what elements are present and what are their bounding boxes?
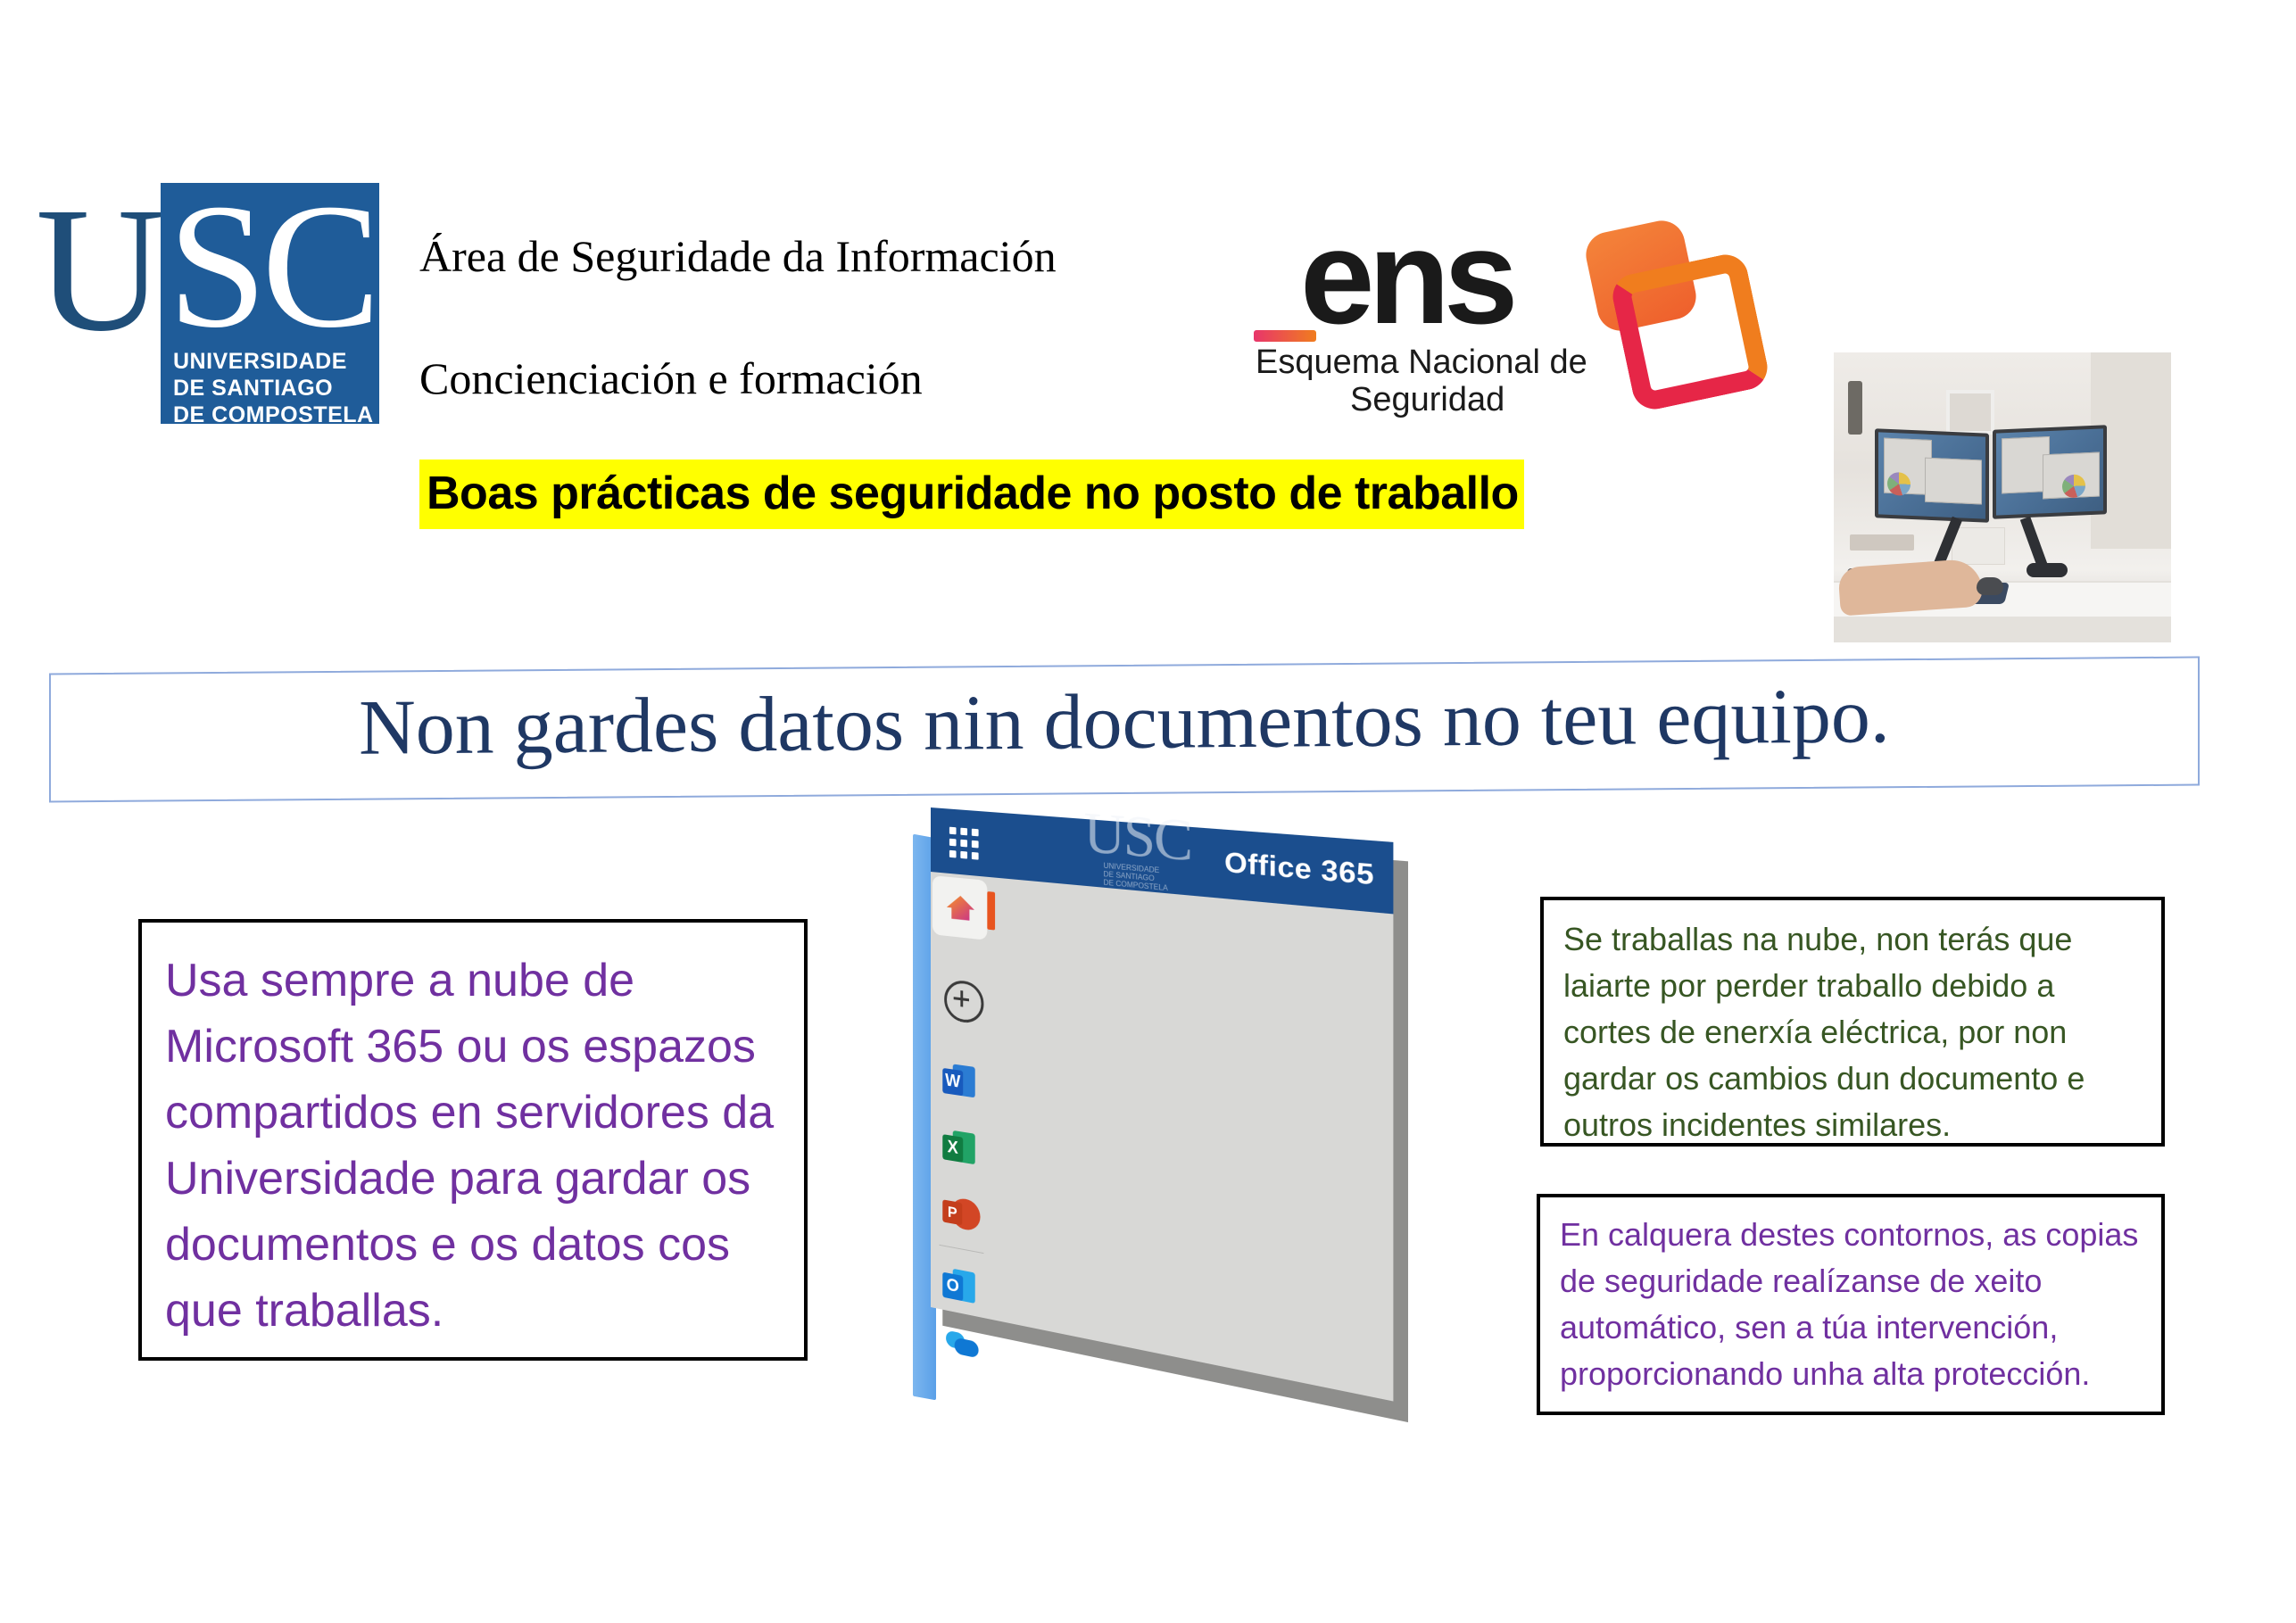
photo-mouse (1977, 577, 2003, 595)
word-icon-letter: W (942, 1068, 963, 1096)
usc-logo-sub-universidade: UNIVERSIDADE (173, 348, 378, 375)
word-icon[interactable]: W (942, 1063, 974, 1102)
usc-logo: U SC UNIVERSIDADE DE SANTIAGO DE COMPOST… (36, 183, 393, 428)
photo-monitor-right (1993, 425, 2107, 519)
callout-box-backups: En calquera destes contornos, as copias … (1537, 1194, 2165, 1415)
header-subtitle: Concienciación e formación (419, 352, 923, 404)
office365-panel: USC UNIVERSIDADE DE SANTIAGO DE COMPOSTE… (879, 807, 1388, 1445)
powerpoint-icon[interactable]: P (942, 1195, 974, 1235)
usc-logo-sub-santiago: DE SANTIAGO (173, 375, 378, 402)
office365-panel-face: USC UNIVERSIDADE DE SANTIAGO DE COMPOSTE… (931, 807, 1393, 1402)
photo-pie-chart (1887, 472, 1911, 496)
workstation-photo (1834, 352, 2171, 642)
callout-box-cloud-usage: Usa sempre a nube de Microsoft 365 ou os… (138, 919, 808, 1361)
ens-logo-sub1: Esquema Nacional de (1256, 344, 1587, 382)
usc-logo-blue-box: SC UNIVERSIDADE DE SANTIAGO DE COMPOSTEL… (161, 183, 379, 424)
callout-box-cloud-benefits: Se traballas na nube, non terás que laia… (1540, 897, 2165, 1147)
ens-logo: ens Esquema Nacional de Seguridad (1236, 210, 1762, 406)
photo-bottle (1848, 381, 1862, 435)
usc-logo-sub-compostela: DE COMPOSTELA (173, 402, 378, 428)
excel-icon[interactable]: X (942, 1129, 974, 1168)
ens-logo-word: ens (1300, 210, 1512, 344)
photo-desk-box (1952, 527, 2005, 565)
photo-picture-frame (1946, 390, 1994, 435)
app-launcher-waffle-icon[interactable] (949, 827, 979, 860)
office365-usc-watermark: USC UNIVERSIDADE DE SANTIAGO DE COMPOSTE… (1082, 806, 1194, 906)
powerpoint-icon-letter: P (942, 1199, 962, 1225)
outlook-icon-letter: O (942, 1272, 963, 1302)
photo-window (1925, 458, 1982, 505)
photo-screen-left (1878, 432, 1985, 518)
ens-logo-sub2: Seguridad (1350, 381, 1504, 419)
photo-screen-right (1996, 428, 2103, 515)
photo-monitor-arm-base (2027, 563, 2068, 577)
main-banner: Non gardes datos nin documentos no teu e… (49, 665, 2200, 794)
banner-text: Non gardes datos nin documentos no teu e… (49, 669, 2200, 776)
ens-squares-icon (1575, 226, 1740, 386)
watermark-usc-text: USC (1082, 806, 1194, 869)
home-active-indicator (987, 891, 995, 931)
office365-title: Office 365 (1224, 847, 1374, 892)
ens-square-red (1609, 251, 1772, 414)
rail-divider (939, 1245, 983, 1254)
office365-header-bar: USC UNIVERSIDADE DE SANTIAGO DE COMPOSTE… (931, 807, 1393, 914)
onedrive-icon[interactable] (942, 1328, 974, 1369)
outlook-icon[interactable]: O (942, 1267, 974, 1307)
callout-box-backups-text: En calquera destes contornos, as copias … (1560, 1212, 2142, 1397)
home-icon[interactable] (944, 889, 976, 926)
callout-box-cloud-benefits-text: Se traballas na nube, non terás que laia… (1563, 916, 2142, 1148)
usc-logo-letters-sc: SC (168, 186, 382, 347)
photo-monitor-left (1875, 428, 1989, 523)
photo-human-arm (1837, 558, 1983, 616)
header-highlighted-topic: Boas prácticas de seguridade no posto de… (419, 460, 1524, 529)
create-plus-icon[interactable] (944, 979, 983, 1025)
photo-desk-front (1834, 617, 2171, 642)
header-title-area: Área de Seguridade da Información (419, 230, 1057, 282)
callout-box-cloud-usage-text: Usa sempre a nube de Microsoft 365 ou os… (165, 948, 781, 1344)
photo-books (1850, 534, 1914, 551)
excel-icon-letter: X (942, 1134, 963, 1163)
office365-app-rail: W X P O (931, 872, 994, 1320)
